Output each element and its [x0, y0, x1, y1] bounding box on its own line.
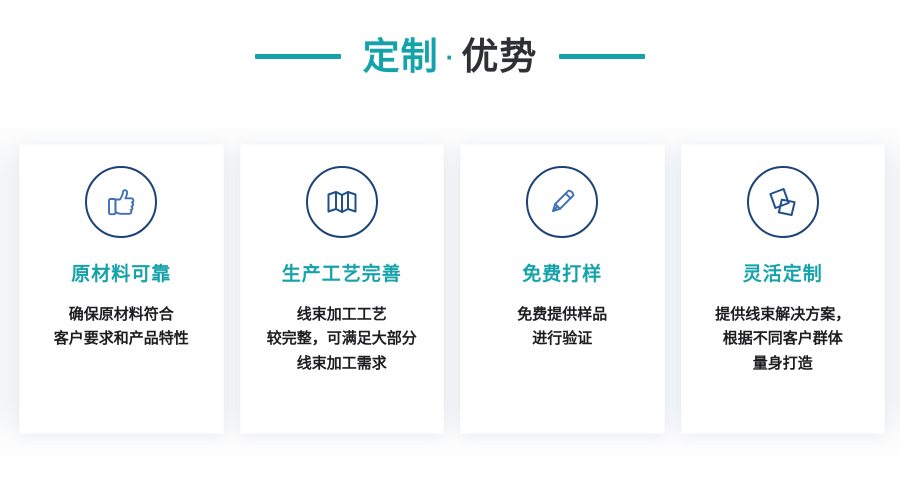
feature-card[interactable]: 生产工艺完善 线束加工工艺 较完整，可满足大部分 线束加工需求 [241, 145, 444, 433]
card-body-line: 客户要求和产品特性 [54, 327, 189, 351]
card-body: 确保原材料符合 客户要求和产品特性 [46, 303, 197, 352]
feature-card[interactable]: 原材料可靠 确保原材料符合 客户要求和产品特性 [20, 145, 223, 433]
card-body: 免费提供样品 进行验证 [509, 303, 615, 352]
heading-rule-right [559, 54, 645, 59]
heading-text: 定制 · 优势 [363, 38, 538, 75]
card-body: 线束加工工艺 较完整，可满足大部分 线束加工需求 [259, 303, 425, 376]
heading-rule-left [255, 54, 341, 59]
card-body-line: 线束加工工艺 [267, 303, 417, 327]
heading-main-text: 优势 [461, 38, 537, 75]
feature-card[interactable]: 灵活定制 提供线束解决方案， 根据不同客户群体 量身打造 [682, 145, 885, 433]
thumbs-up-icon [101, 182, 141, 222]
card-title: 生产工艺完善 [282, 265, 402, 284]
card-body-line: 免费提供样品 [517, 303, 607, 327]
section-heading: 定制 · 优势 [0, 28, 900, 84]
heading-accent-text: 定制 [363, 38, 439, 75]
stacked-cards-icon [763, 182, 803, 222]
card-body: 提供线束解决方案， 根据不同客户群体 量身打造 [707, 303, 858, 376]
icon-circle [747, 166, 819, 238]
folded-map-icon [322, 182, 362, 222]
icon-circle [526, 166, 598, 238]
card-title: 灵活定制 [743, 265, 823, 284]
icon-circle [85, 166, 157, 238]
icon-circle [306, 166, 378, 238]
card-body-line: 较完整，可满足大部分 [267, 327, 417, 351]
card-body-line: 根据不同客户群体 [715, 327, 850, 351]
card-title: 原材料可靠 [71, 265, 171, 284]
feature-card[interactable]: 免费打样 免费提供样品 进行验证 [461, 145, 664, 433]
card-body-line: 量身打造 [715, 352, 850, 376]
card-body-line: 线束加工需求 [267, 352, 417, 376]
card-body-line: 提供线束解决方案， [715, 303, 850, 327]
feature-cards-row: 原材料可靠 确保原材料符合 客户要求和产品特性 生产工艺完善 线束加工工艺 较完… [20, 145, 884, 433]
card-body-line: 确保原材料符合 [54, 303, 189, 327]
card-title: 免费打样 [522, 265, 602, 284]
pencil-icon [542, 182, 582, 222]
heading-separator-dot: · [439, 44, 462, 70]
card-body-line: 进行验证 [517, 327, 607, 351]
